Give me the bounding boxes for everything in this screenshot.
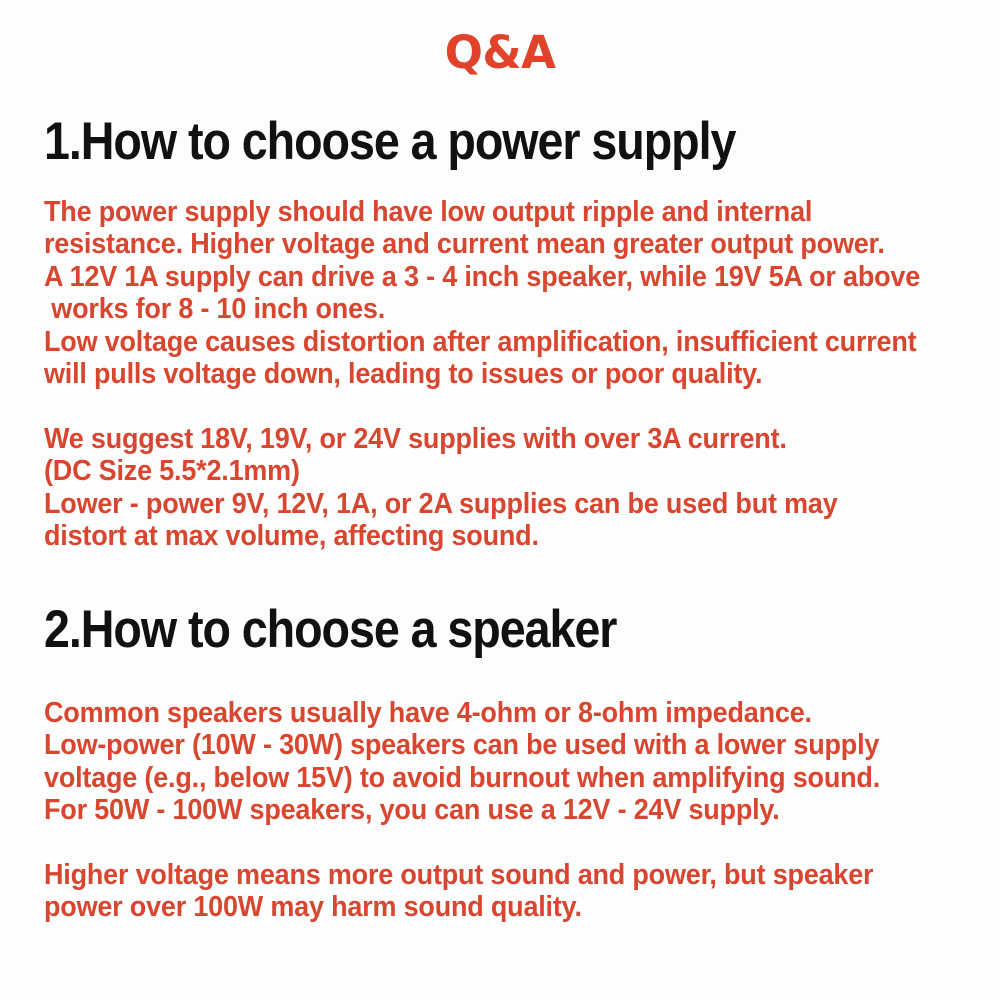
body-line: (DC Size 5.5*2.1mm) bbox=[44, 455, 909, 487]
body-line: Low voltage causes distortion after ampl… bbox=[44, 326, 909, 358]
section-2-heading: 2.How to choose a speaker bbox=[44, 600, 862, 660]
body-line: Lower - power 9V, 12V, 1A, or 2A supplie… bbox=[44, 488, 909, 520]
qa-document-page: Q&A 1.How to choose a power supply The p… bbox=[0, 0, 1000, 1000]
body-line: Low-power (10W - 30W) speakers can be us… bbox=[44, 729, 909, 761]
section-1-heading: 1.How to choose a power supply bbox=[44, 112, 862, 172]
paragraph-gap bbox=[44, 390, 909, 422]
body-line: voltage (e.g., below 15V) to avoid burno… bbox=[44, 762, 909, 794]
body-line: Higher voltage means more output sound a… bbox=[44, 859, 909, 891]
body-line: Common speakers usually have 4-ohm or 8-… bbox=[44, 697, 909, 729]
body-line: will pulls voltage down, leading to issu… bbox=[44, 358, 909, 390]
body-line: The power supply should have low output … bbox=[44, 196, 909, 228]
body-line: distort at max volume, affecting sound. bbox=[44, 520, 909, 552]
page-title: Q&A bbox=[0, 28, 1000, 78]
body-line: For 50W - 100W speakers, you can use a 1… bbox=[44, 794, 909, 826]
section-1-body: The power supply should have low output … bbox=[44, 196, 909, 552]
paragraph-gap bbox=[44, 827, 909, 859]
body-line: A 12V 1A supply can drive a 3 - 4 inch s… bbox=[44, 261, 909, 293]
body-line: resistance. Higher voltage and current m… bbox=[44, 228, 909, 260]
body-line: power over 100W may harm sound quality. bbox=[44, 891, 909, 923]
body-line: works for 8 - 10 inch ones. bbox=[44, 293, 909, 325]
section-2-body: Common speakers usually have 4-ohm or 8-… bbox=[44, 697, 909, 924]
body-line: We suggest 18V, 19V, or 24V supplies wit… bbox=[44, 423, 909, 455]
